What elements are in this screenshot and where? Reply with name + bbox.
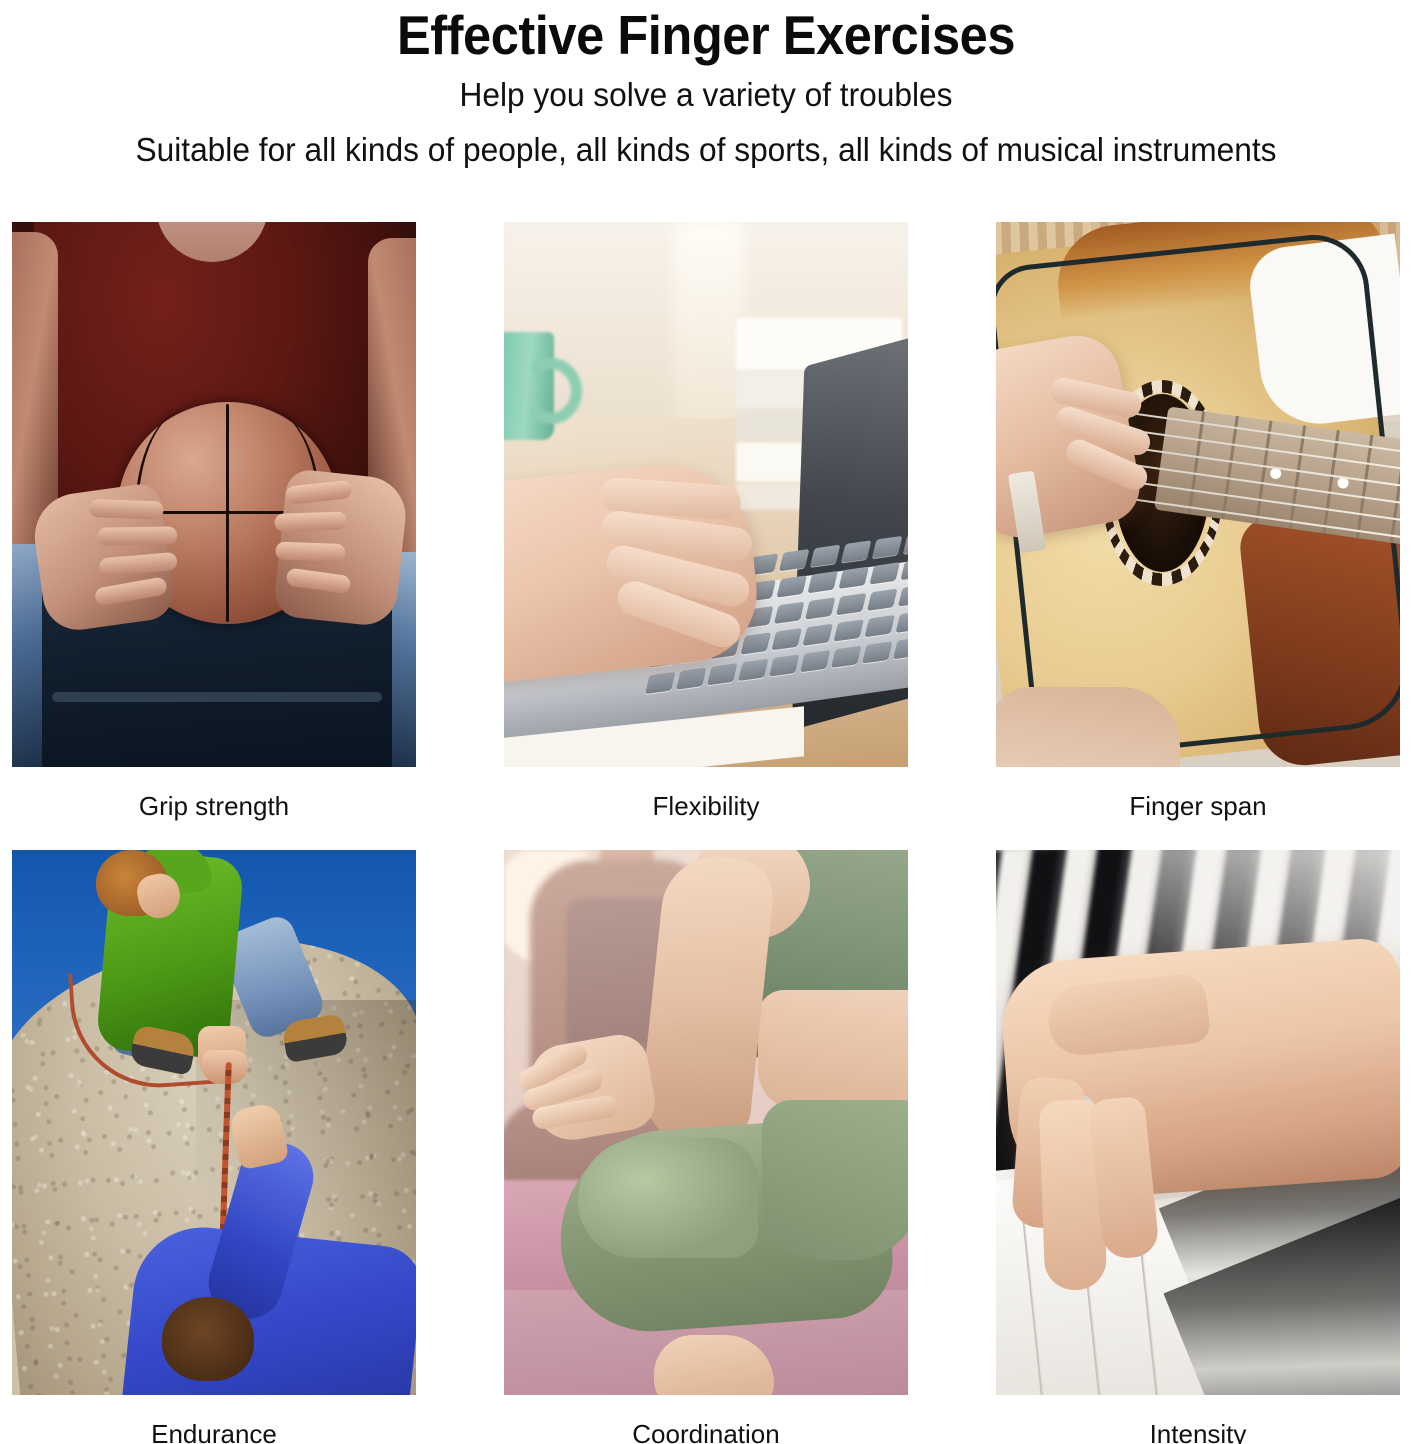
caption-grip-strength: Grip strength [12, 767, 416, 850]
grid-item-grip-strength: Grip strength [12, 222, 416, 850]
coffee-mug-icon [504, 332, 554, 440]
photo-rock-climbing [12, 850, 416, 1395]
photo-guitar [996, 222, 1400, 767]
caption-endurance: Endurance [12, 1395, 416, 1444]
photo-laptop-typing [504, 222, 908, 767]
subtitle-primary: Help you solve a variety of troubles [28, 72, 1384, 118]
caption-intensity: Intensity [996, 1395, 1400, 1444]
caption-coordination: Coordination [504, 1395, 908, 1444]
photo-basketball [12, 222, 416, 767]
header: Effective Finger Exercises Help you solv… [0, 0, 1412, 173]
caption-flexibility: Flexibility [504, 767, 908, 850]
grid-item-intensity: Intensity [996, 850, 1400, 1444]
infographic-page: Effective Finger Exercises Help you solv… [0, 0, 1412, 1444]
grid-item-finger-span: Finger span [996, 222, 1400, 850]
grid-item-endurance: Endurance [12, 850, 416, 1444]
grid-item-coordination: Coordination [504, 850, 908, 1444]
grid-item-flexibility: Flexibility [504, 222, 908, 850]
feature-grid: Grip strength Flexibility [12, 222, 1400, 1444]
page-title: Effective Finger Exercises [56, 4, 1355, 66]
photo-piano [996, 850, 1400, 1395]
caption-finger-span: Finger span [996, 767, 1400, 850]
subtitle-secondary: Suitable for all kinds of people, all ki… [28, 127, 1384, 173]
photo-yoga-meditation [504, 850, 908, 1395]
